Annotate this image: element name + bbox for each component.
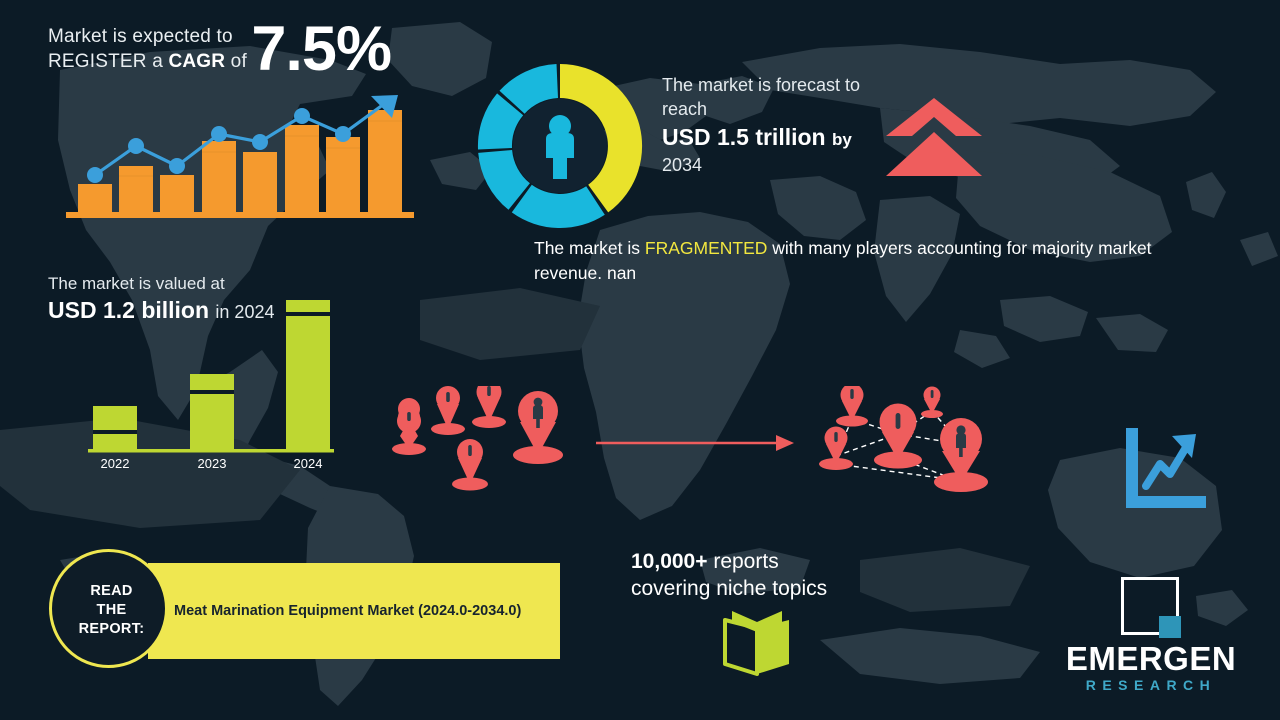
x-axis-tick-labels: 2022 2023 2024 — [101, 456, 323, 471]
cagr-line2-pre: REGISTER a — [48, 51, 168, 72]
forecast-year: 2034 — [662, 154, 902, 177]
read-the-report-label: READ THE REPORT: — [52, 582, 171, 639]
growth-chart-icon — [1122, 428, 1206, 512]
bar-series — [93, 300, 330, 450]
map-pin-cluster-icon — [382, 386, 582, 494]
logo-name: EMERGEN — [1036, 641, 1266, 677]
cta-line1: READ — [90, 583, 132, 599]
chart-baseline — [88, 449, 334, 453]
report-cta-bar[interactable]: Meat Marination Equipment Market (2024.0… — [148, 563, 560, 659]
report-title: Meat Marination Equipment Market (2024.0… — [174, 596, 534, 627]
forecast-line1: The market is forecast to — [662, 73, 902, 97]
emergen-research-logo: EMERGEN RESEARCH — [1036, 575, 1266, 705]
market-share-donut — [470, 56, 650, 236]
tick-2022: 2022 — [101, 456, 130, 471]
infographic-canvas: Market is expected to REGISTER a CAGR of… — [0, 0, 1280, 720]
chart-baseline — [66, 212, 414, 218]
cagr-label: Market is expected to REGISTER a CAGR of — [48, 24, 247, 78]
cta-line3: REPORT: — [79, 621, 145, 637]
connected-map-pin-network-icon — [806, 386, 1020, 500]
open-book-icon — [718, 608, 796, 680]
reports-count: 10,000+ — [631, 550, 708, 573]
read-the-report-button[interactable]: READ THE REPORT: — [49, 549, 168, 668]
logo-tagline: RESEARCH — [1036, 677, 1266, 693]
forecast-value: USD 1.5 trillion — [662, 124, 826, 150]
reports-line2: covering niche topics — [631, 575, 921, 602]
cagr-line1: Market is expected to — [48, 26, 233, 47]
bar-2023 — [190, 374, 234, 450]
forecast-by: by — [832, 130, 852, 149]
forecast-line2: reach — [662, 97, 902, 121]
cagr-line2-bold: CAGR — [168, 51, 225, 72]
logo-corner-accent-icon — [1159, 616, 1181, 638]
forecast-text-block: The market is forecast to reach USD 1.5 … — [662, 73, 902, 177]
tick-2024: 2024 — [294, 456, 323, 471]
fragmented-pre: The market is — [534, 238, 645, 258]
reports-line1-rest: reports — [708, 550, 779, 573]
growth-trend-bar-chart — [66, 84, 416, 224]
bar-2024 — [286, 300, 330, 450]
cagr-value: 7.5% — [251, 20, 391, 78]
valuation-line1: The market is valued at — [48, 272, 348, 295]
cagr-line2-post: of — [225, 51, 247, 72]
bar-2022 — [93, 406, 137, 450]
valuation-bar-chart: 2022 2023 2024 — [88, 296, 334, 472]
fragmentation-text-block: The market is FRAGMENTED with many playe… — [534, 236, 1214, 286]
double-chevron-up-icon — [886, 98, 982, 180]
cagr-text-block: Market is expected to REGISTER a CAGR of… — [48, 20, 468, 78]
tick-2023: 2023 — [198, 456, 227, 471]
fragmented-highlight: FRAGMENTED — [645, 238, 768, 258]
right-arrow-icon — [596, 432, 796, 454]
reports-text-block: 10,000+ reports covering niche topics — [631, 548, 921, 602]
cta-line2: THE — [97, 602, 127, 618]
